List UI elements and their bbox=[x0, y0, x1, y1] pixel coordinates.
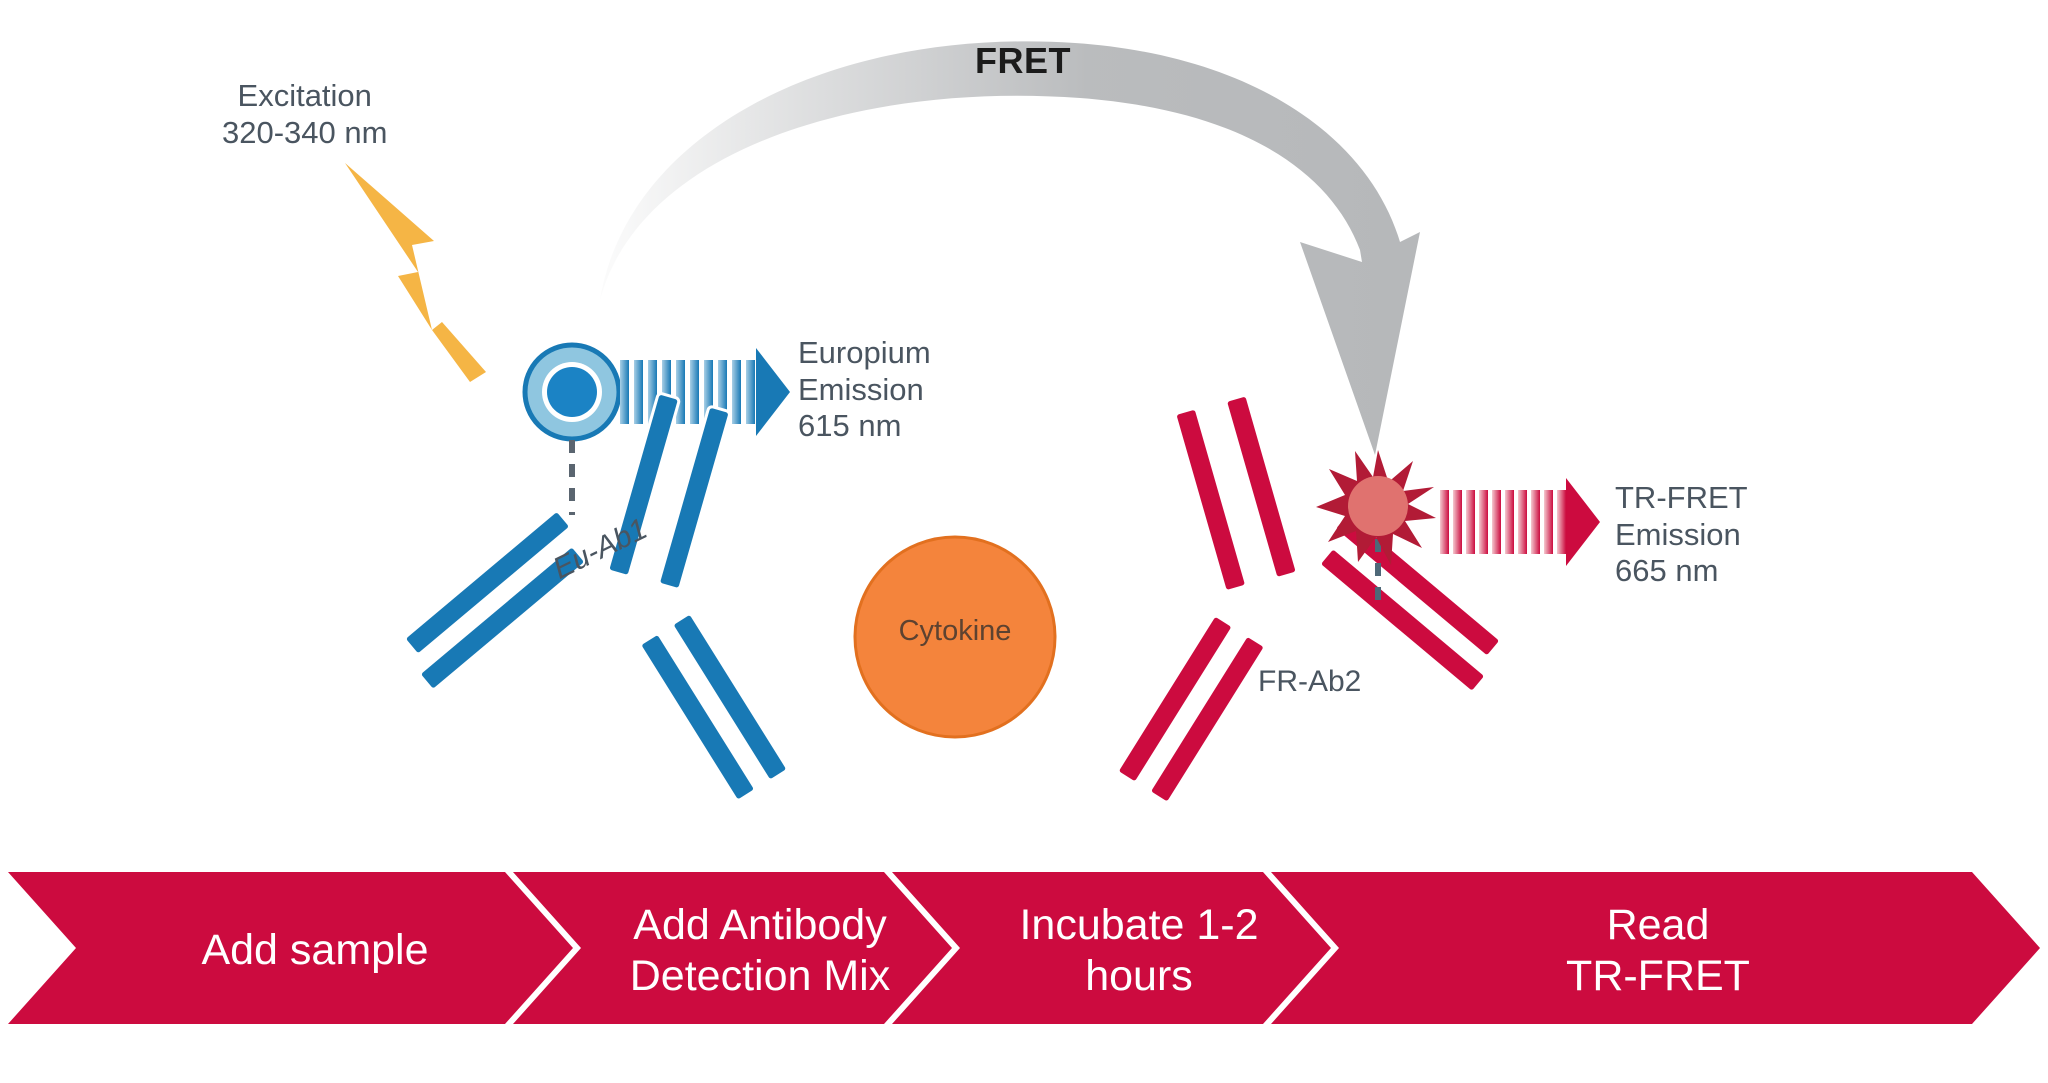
workflow-step-2-label[interactable]: Add Antibody Detection Mix bbox=[585, 900, 935, 1001]
workflow-step-3-label[interactable]: Incubate 1-2 hours bbox=[964, 900, 1314, 1001]
workflow-step-4-label[interactable]: Read TR-FRET bbox=[1343, 900, 1973, 1001]
diagram-canvas: Excitation 320-340 nm FRET Europium Emis… bbox=[0, 0, 2048, 1083]
workflow-step-1-label[interactable]: Add sample bbox=[80, 925, 550, 976]
